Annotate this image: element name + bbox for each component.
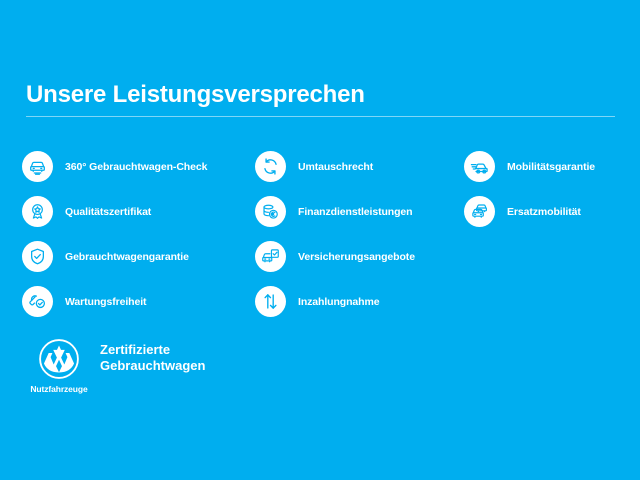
feature-item-gebrauchtwagengarantie[interactable]: Gebrauchtwagengarantie [22, 234, 258, 279]
exchange-arrows-icon [255, 151, 286, 182]
feature-label: Finanzdienstleistungen [298, 206, 412, 218]
feature-label: Umtauschrecht [298, 161, 373, 173]
feature-label: Gebrauchtwagengarantie [65, 251, 189, 263]
car-document-check-icon [255, 241, 286, 272]
logo-mark-wrap: Nutzfahrzeuge [22, 338, 96, 394]
vw-roundel-icon [38, 338, 80, 380]
slide-canvas: Unsere Leistungsversprechen 360° Gebrauc [0, 0, 640, 480]
feature-columns: 360° Gebrauchtwagen-Check Qualitätszerti… [0, 144, 640, 334]
feature-label: Wartungsfreiheit [65, 296, 146, 308]
headline-divider [26, 116, 615, 117]
feature-item-qualitaetszertifikat[interactable]: Qualitätszertifikat [22, 189, 258, 234]
shield-check-icon [22, 241, 53, 272]
feature-item-wartungsfreiheit[interactable]: Wartungsfreiheit [22, 279, 258, 324]
feature-item-gebrauchtwagen-check[interactable]: 360° Gebrauchtwagen-Check [22, 144, 258, 189]
award-rosette-icon [22, 196, 53, 227]
feature-label: 360° Gebrauchtwagen-Check [65, 161, 207, 173]
feature-label: Mobilitätsgarantie [507, 161, 595, 173]
logo-claim-line-2: Gebrauchtwagen [100, 358, 205, 374]
brand-logo-lockup: Nutzfahrzeuge Zertifizierte Gebrauchtwag… [22, 338, 205, 394]
feature-column-1: 360° Gebrauchtwagen-Check Qualitätszerti… [22, 144, 258, 324]
feature-item-inzahlungnahme[interactable]: Inzahlungnahme [255, 279, 465, 324]
feature-item-mobilitaetsgarantie[interactable]: Mobilitätsgarantie [464, 144, 640, 189]
two-cars-icon [464, 196, 495, 227]
feature-item-ersatzmobilitaet[interactable]: Ersatzmobilität [464, 189, 640, 234]
logo-claim: Zertifizierte Gebrauchtwagen [100, 342, 205, 375]
feature-item-finanzdienstleistungen[interactable]: Finanzdienstleistungen [255, 189, 465, 234]
logo-wordmark: Nutzfahrzeuge [30, 384, 87, 394]
feature-item-umtauschrecht[interactable]: Umtauschrecht [255, 144, 465, 189]
feature-column-2: Umtauschrecht Finanzdienstleistungen [255, 144, 465, 324]
headline-block: Unsere Leistungsversprechen [26, 82, 616, 117]
wrench-check-icon [22, 286, 53, 317]
logo-claim-line-1: Zertifizierte [100, 342, 205, 358]
feature-label: Versicherungsangebote [298, 251, 415, 263]
up-down-arrows-icon [255, 286, 286, 317]
feature-label: Qualitätszertifikat [65, 206, 151, 218]
page-title: Unsere Leistungsversprechen [26, 82, 616, 108]
coins-euro-icon [255, 196, 286, 227]
feature-column-3: Mobilitätsgarantie Ersatzmobilität [464, 144, 640, 234]
feature-label: Ersatzmobilität [507, 206, 581, 218]
car-motion-icon [464, 151, 495, 182]
car-inspection-icon [22, 151, 53, 182]
feature-item-versicherungsangebote[interactable]: Versicherungsangebote [255, 234, 465, 279]
feature-label: Inzahlungnahme [298, 296, 379, 308]
